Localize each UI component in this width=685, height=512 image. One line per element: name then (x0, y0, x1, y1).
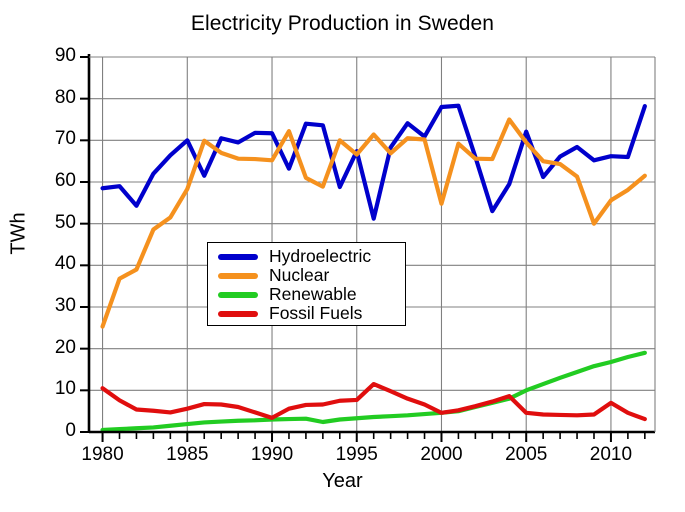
y-tick-label: 80 (28, 87, 76, 109)
legend: HydroelectricNuclearRenewableFossil Fuel… (207, 242, 406, 326)
x-tick-label: 1995 (322, 444, 392, 466)
legend-swatch-icon (218, 292, 258, 298)
series-line-renewable (103, 353, 645, 430)
legend-item-renewable[interactable]: Renewable (208, 285, 405, 304)
y-tick-label: 0 (28, 420, 76, 442)
legend-item-nuclear[interactable]: Nuclear (208, 266, 405, 285)
x-tick-label: 1985 (152, 444, 222, 466)
y-tick-label: 40 (28, 253, 76, 275)
legend-swatch-icon (218, 254, 258, 260)
x-tick-label: 1980 (68, 444, 138, 466)
y-tick-label: 20 (28, 337, 76, 359)
chart-figure: Electricity Production in Sweden TWh Yea… (0, 0, 685, 512)
y-tick-label: 90 (28, 45, 76, 67)
y-tick-label: 10 (28, 378, 76, 400)
legend-swatch-icon (218, 311, 258, 317)
y-tick-label: 50 (28, 212, 76, 234)
legend-label: Renewable (269, 285, 357, 304)
x-tick-label: 2000 (406, 444, 476, 466)
legend-label: Hydroelectric (269, 247, 371, 266)
x-tick-label: 1990 (237, 444, 307, 466)
legend-label: Nuclear (269, 266, 329, 285)
legend-item-fossil-fuels[interactable]: Fossil Fuels (208, 304, 405, 323)
y-tick-label: 60 (28, 170, 76, 192)
x-tick-label: 2005 (491, 444, 561, 466)
y-tick-label: 70 (28, 128, 76, 150)
y-tick-label: 30 (28, 295, 76, 317)
series-line-hydroelectric (103, 106, 645, 219)
x-tick-label: 2010 (576, 444, 646, 466)
legend-swatch-icon (218, 273, 258, 279)
legend-item-hydroelectric[interactable]: Hydroelectric (208, 247, 405, 266)
legend-label: Fossil Fuels (269, 304, 362, 323)
series-line-fossil-fuels (103, 384, 645, 419)
